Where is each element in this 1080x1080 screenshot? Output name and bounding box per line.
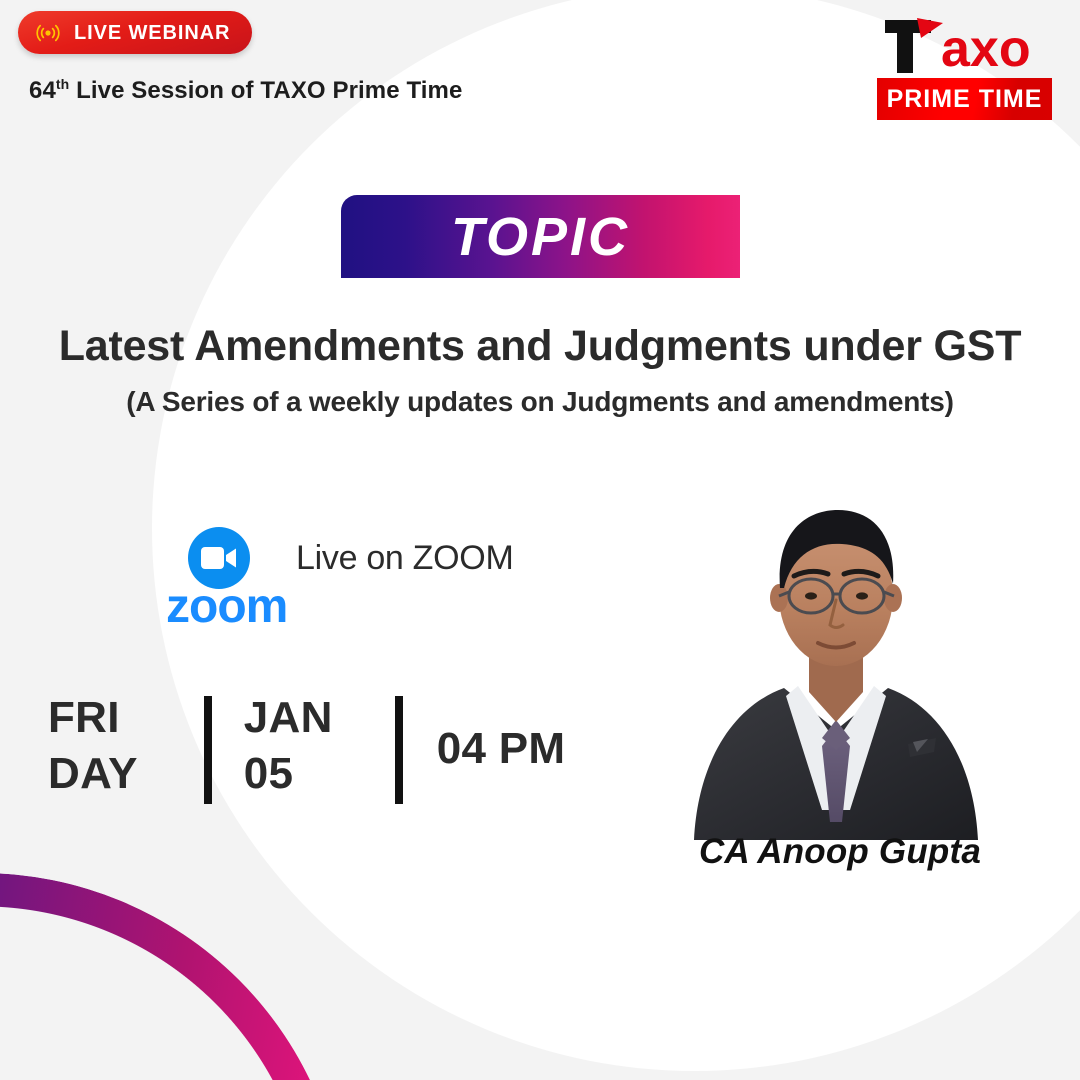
date-column: JAN 05 [244, 690, 333, 803]
divider-2 [395, 696, 403, 804]
taxo-wordmark: axo [877, 14, 1052, 76]
date-label: 05 [244, 746, 333, 802]
day-line-2: DAY [48, 746, 138, 802]
day-line-1: FRI [48, 690, 138, 746]
session-ordinal: th [56, 76, 69, 92]
speaker-name: CA Anoop Gupta [650, 832, 1030, 872]
platform-block: Live on ZOOM zoom [166, 527, 526, 631]
page-title: Latest Amendments and Judgments under GS… [0, 322, 1080, 371]
live-webinar-label: LIVE WEBINAR [74, 23, 230, 43]
session-line: 64th Live Session of TAXO Prime Time [29, 76, 462, 105]
webinar-poster: LIVE WEBINAR 64th Live Session of TAXO P… [0, 0, 1080, 1080]
divider-1 [204, 696, 212, 804]
zoom-wordmark: zoom [166, 583, 526, 631]
topic-banner: TOPIC [341, 195, 740, 278]
live-webinar-badge[interactable]: LIVE WEBINAR [18, 11, 252, 54]
svg-text:axo: axo [941, 20, 1031, 76]
session-text: Live Session of TAXO Prime Time [69, 77, 462, 104]
speaker-portrait [672, 492, 1000, 840]
schedule-row: FRI DAY JAN 05 04 PM [48, 690, 565, 808]
prime-time-banner: PRIME TIME [877, 78, 1052, 120]
page-subtitle: (A Series of a weekly updates on Judgmen… [0, 386, 1080, 418]
taxo-logo: axo PRIME TIME [877, 14, 1052, 120]
time-column: 04 PM [437, 690, 566, 808]
prime-time-label: PRIME TIME [887, 87, 1043, 112]
platform-label: Live on ZOOM [296, 539, 513, 578]
day-column: FRI DAY [48, 690, 138, 803]
broadcast-signal-icon [34, 21, 62, 45]
topic-banner-label: TOPIC [451, 210, 630, 264]
time-label: 04 PM [437, 727, 566, 771]
session-number: 64 [29, 77, 56, 104]
month-label: JAN [244, 690, 333, 746]
